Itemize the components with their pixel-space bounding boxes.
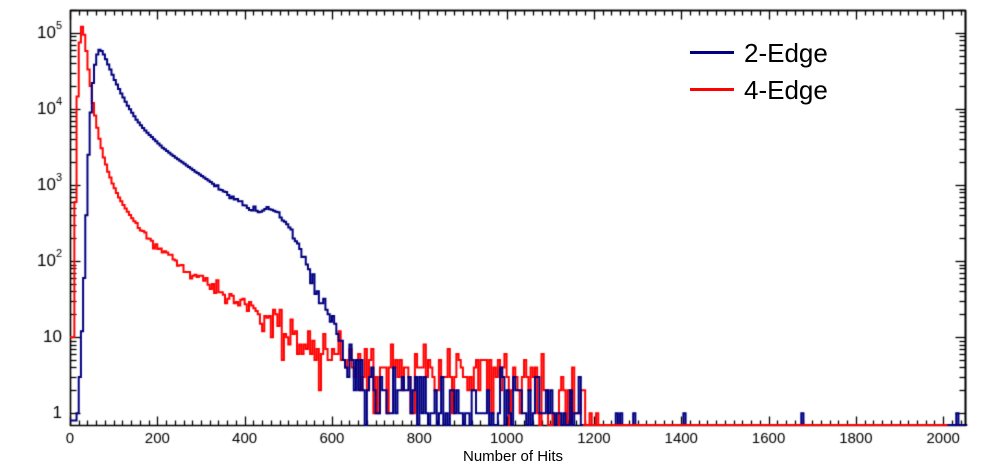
- legend-entry-2-edge: 2-Edge: [690, 34, 900, 71]
- legend-entry-4-edge: 4-Edge: [690, 71, 900, 108]
- chart-legend: 2-Edge 4-Edge: [690, 34, 900, 108]
- legend-swatch-4-edge: [690, 88, 734, 91]
- legend-swatch-2-edge: [690, 51, 734, 54]
- x-axis-title: Number of Hits: [463, 448, 563, 465]
- legend-label-4-edge: 4-Edge: [744, 77, 828, 103]
- chart-page: Number of Hits 2-Edge 4-Edge: [0, 0, 996, 472]
- legend-label-2-edge: 2-Edge: [744, 40, 828, 66]
